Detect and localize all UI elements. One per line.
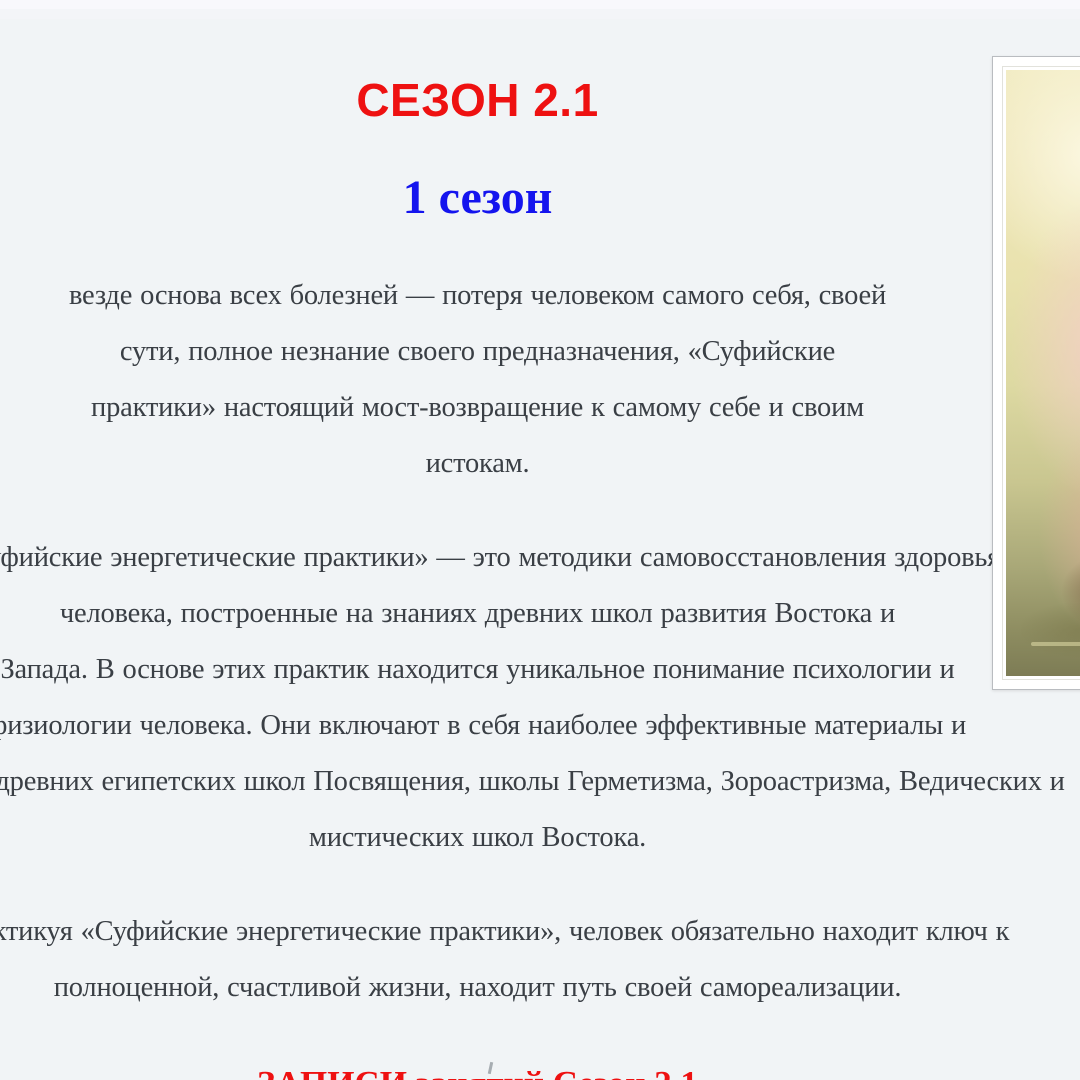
painting-shadow-base	[1021, 603, 1080, 658]
paragraph-line: мистических школ Востока.	[0, 810, 1080, 866]
painting-image	[1006, 70, 1080, 676]
painting-signature	[1031, 642, 1080, 646]
paragraph-line: полноценной, счастливой жизни, находит п…	[0, 960, 1080, 1016]
paragraph-line: истокам.	[0, 436, 1080, 492]
page-subtitle-season-one: 1 сезон	[0, 126, 1080, 226]
paragraph-outcome: Практикуя «Суфийские энергетические прак…	[0, 866, 1080, 1016]
page-root: СЕЗОН 2.1 1 сезон везде основа всех боле…	[0, 0, 1080, 1080]
paragraph-definition: «Суфийские энергетические практики» — эт…	[0, 492, 1080, 866]
paragraph-line: Практикуя «Суфийские энергетические прак…	[0, 904, 1080, 960]
paragraph-line: техники древних египетских школ Посвящен…	[0, 754, 1080, 810]
paragraph-line: везде основа всех болезней — потеря чело…	[0, 268, 1080, 324]
paragraph-line: практики» настоящий мост-возвращение к с…	[0, 380, 1080, 436]
section-title-recordings: ЗАПИСИ занятий Сезон 2.1	[0, 1016, 1080, 1080]
paragraph-line: «Суфийские энергетические практики» — эт…	[0, 530, 1080, 586]
page-title-season: СЕЗОН 2.1	[0, 0, 1080, 126]
paragraph-line: физиологии человека. Они включают в себя…	[0, 698, 1080, 754]
framed-painting[interactable]	[992, 56, 1080, 690]
paragraph-line: сути, полное незнание своего предназначе…	[0, 324, 1080, 380]
paragraph-intro: везде основа всех болезней — потеря чело…	[0, 226, 1080, 492]
article-content: СЕЗОН 2.1 1 сезон везде основа всех боле…	[0, 0, 1080, 1080]
paragraph-line: Запада. В основе этих практик находится …	[0, 642, 1080, 698]
picture-mat	[1002, 66, 1080, 680]
paragraph-line: человека, построенные на знаниях древних…	[0, 586, 1080, 642]
